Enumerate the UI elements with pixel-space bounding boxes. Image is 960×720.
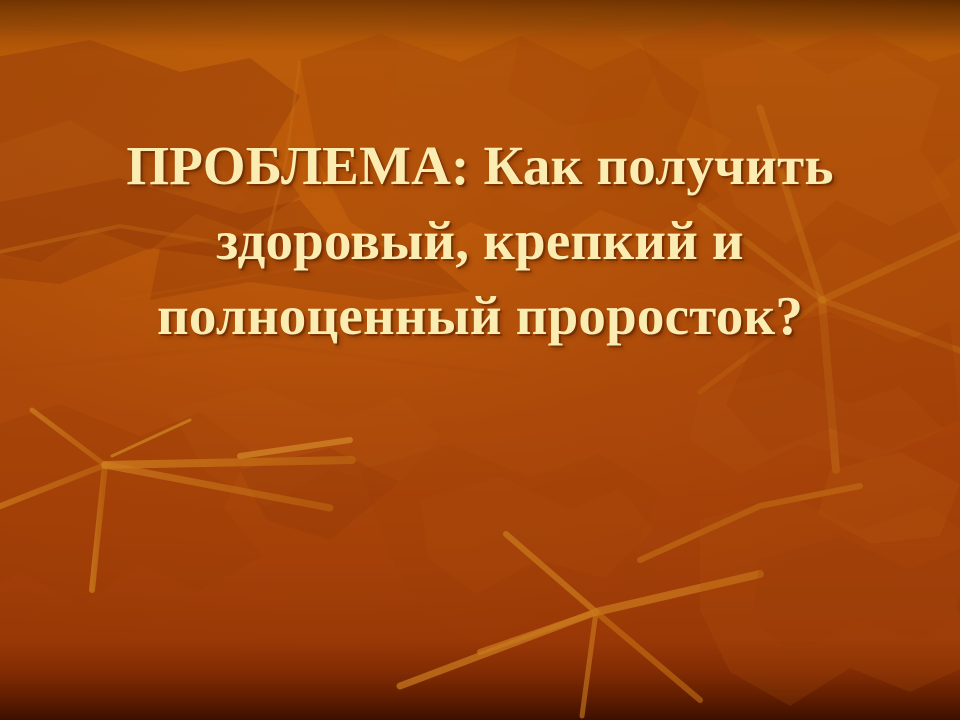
title-line-2: здоровый, крепкий и — [40, 203, 920, 278]
leaf-bottom-right — [700, 452, 960, 706]
slide-canvas: ПРОБЛЕМА: Как получить здоровый, крепкий… — [0, 0, 960, 720]
title-line-1: ПРОБЛЕМА: Как получить — [40, 128, 920, 203]
title-line-3: полноценный проросток? — [40, 278, 920, 353]
slide-title: ПРОБЛЕМА: Как получить здоровый, крепкий… — [0, 128, 960, 353]
background-leaf-pattern — [0, 0, 960, 720]
